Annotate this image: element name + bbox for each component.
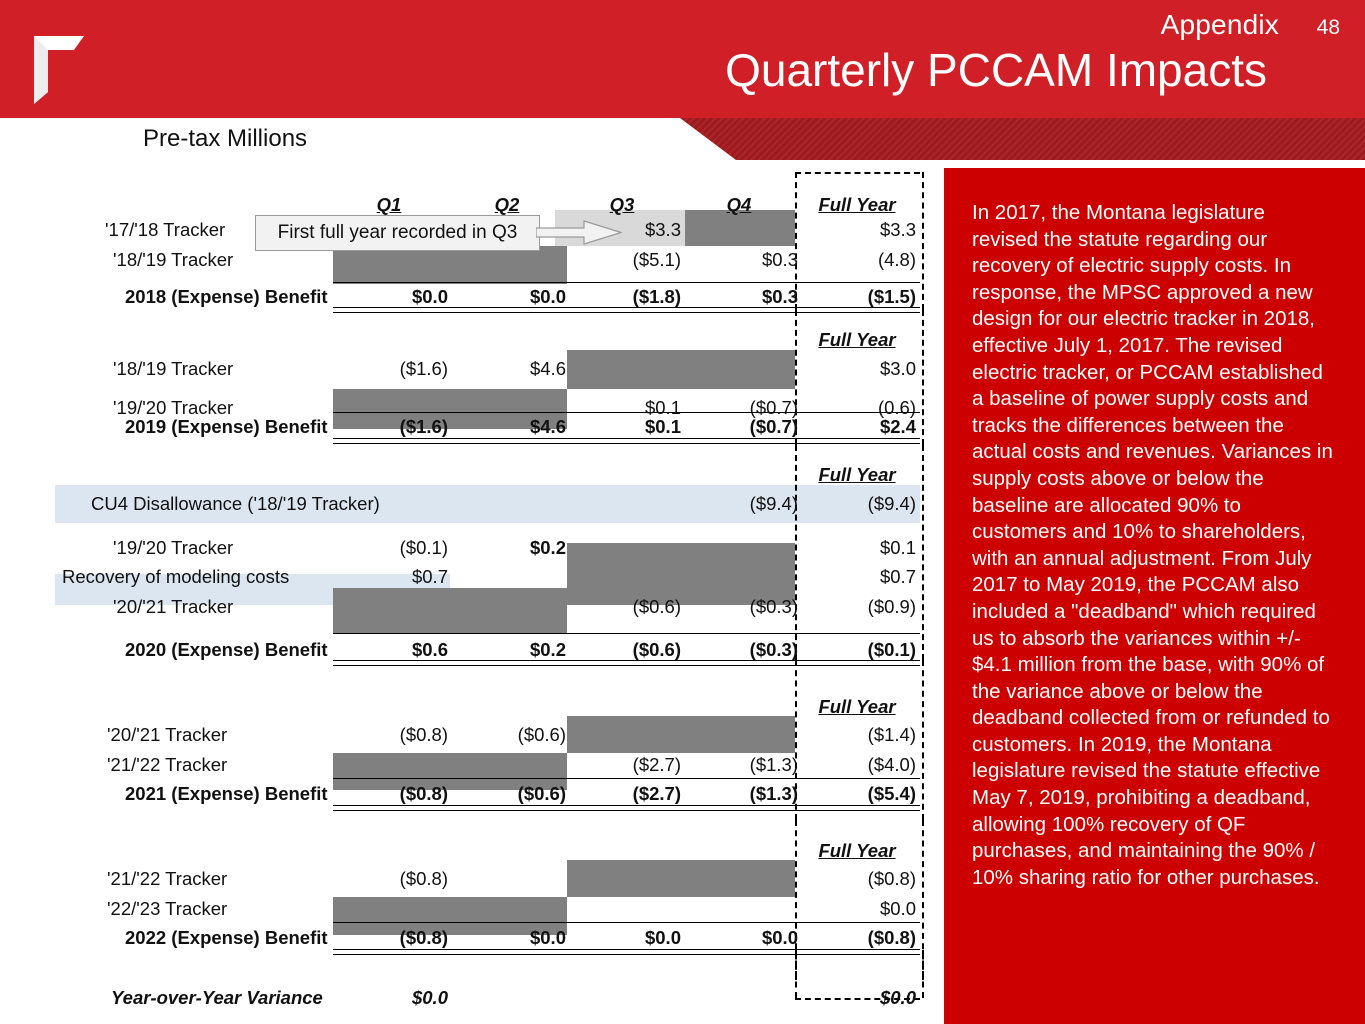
full-year-header-row-2021: Full Year bbox=[0, 692, 944, 721]
column-header-q3: Q3 bbox=[563, 194, 681, 216]
table-total-row: 2022 (Expense) Benefit ($0.8) $0.0 $0.0 … bbox=[0, 923, 944, 952]
row-label: '17/'18 Tracker bbox=[105, 219, 225, 241]
total-q1: ($0.8) bbox=[330, 783, 448, 805]
subtitle-pre-tax-millions: Pre-tax Millions bbox=[143, 125, 307, 153]
cell-full-year: $0.0 bbox=[798, 898, 916, 920]
column-header-full-year-2021: Full Year bbox=[798, 696, 916, 718]
row-label: '21/'22 Tracker bbox=[107, 754, 227, 776]
table-row: '18/'19 Tracker ($1.6) $4.6 $3.0 bbox=[0, 354, 944, 383]
cell-full-year: $0.1 bbox=[798, 537, 916, 559]
total-q4: ($0.7) bbox=[680, 416, 798, 438]
cell-full-year: ($0.9) bbox=[798, 596, 916, 618]
total-label: 2019 (Expense) Benefit bbox=[125, 416, 328, 438]
total-q2: $0.0 bbox=[448, 927, 566, 949]
total-full-year: ($5.4) bbox=[798, 783, 916, 805]
total-q3: $0.0 bbox=[563, 927, 681, 949]
cell-q3: ($5.1) bbox=[563, 249, 681, 271]
cell-q3: ($0.6) bbox=[563, 596, 681, 618]
total-full-year: $2.4 bbox=[798, 416, 916, 438]
total-label: 2020 (Expense) Benefit bbox=[125, 639, 328, 661]
pccam-impacts-table: Q1 Q2 Q3 Q4 Full Year '17/'18 Tracker $3… bbox=[0, 160, 944, 1024]
cell-full-year: $0.7 bbox=[798, 566, 916, 588]
total-q1: $0.0 bbox=[330, 286, 448, 308]
table-total-row: 2021 (Expense) Benefit ($0.8) ($0.6) ($2… bbox=[0, 779, 944, 808]
full-year-header-row-2022: Full Year bbox=[0, 836, 944, 865]
variance-q1: $0.0 bbox=[330, 987, 448, 1009]
slide-number: 48 bbox=[1317, 16, 1340, 40]
full-year-box-top-2018 bbox=[795, 172, 920, 174]
sub-banner-white-cut bbox=[0, 118, 760, 160]
cell-q4: ($1.3) bbox=[680, 754, 798, 776]
table-row: CU4 Disallowance ('18/'19 Tracker) ($9.4… bbox=[0, 489, 944, 518]
variance-full-year: $0.0 bbox=[798, 987, 916, 1009]
cell-q1: ($0.8) bbox=[330, 868, 448, 890]
cell-q4: ($0.3) bbox=[680, 596, 798, 618]
row-label: '19/'20 Tracker bbox=[113, 537, 233, 559]
cell-q2: $0.2 bbox=[448, 537, 566, 559]
callout-first-full-year: First full year recorded in Q3 bbox=[255, 215, 540, 251]
total-q4: ($1.3) bbox=[680, 783, 798, 805]
variance-row: Year-over-Year Variance $0.0 $0.0 bbox=[0, 983, 944, 1012]
row-label: Recovery of modeling costs bbox=[62, 566, 289, 588]
slide-header: Appendix 48 Quarterly PCCAM Impacts bbox=[0, 0, 1365, 118]
pccam-description-panel: In 2017, the Montana legislature revised… bbox=[944, 168, 1365, 1024]
column-header-q2: Q2 bbox=[448, 194, 566, 216]
cell-q3: ($2.7) bbox=[563, 754, 681, 776]
total-q3: ($1.8) bbox=[563, 286, 681, 308]
row-label: '21/'22 Tracker bbox=[107, 868, 227, 890]
cell-full-year: (4.8) bbox=[798, 249, 916, 271]
total-q2: $0.2 bbox=[448, 639, 566, 661]
appendix-label: Appendix bbox=[1161, 9, 1279, 41]
cell-full-year: ($0.8) bbox=[798, 868, 916, 890]
total-q1: ($1.6) bbox=[330, 416, 448, 438]
section-rule bbox=[333, 633, 920, 634]
total-label: 2018 (Expense) Benefit bbox=[125, 286, 328, 308]
page-title: Quarterly PCCAM Impacts bbox=[0, 47, 1267, 93]
row-label: '18/'19 Tracker bbox=[113, 249, 233, 271]
cell-q2: ($0.6) bbox=[448, 724, 566, 746]
total-q1: ($0.8) bbox=[330, 927, 448, 949]
pccam-description-text: In 2017, the Montana legislature revised… bbox=[972, 200, 1336, 891]
cell-q1: ($0.1) bbox=[330, 537, 448, 559]
total-full-year: ($1.5) bbox=[798, 286, 916, 308]
callout-arrow-icon bbox=[536, 220, 622, 245]
table-row: '21/'22 Tracker ($2.7) ($1.3) ($4.0) bbox=[0, 750, 944, 779]
table-row: '19/'20 Tracker ($0.1) $0.2 $0.1 bbox=[0, 533, 944, 562]
total-q3: ($2.7) bbox=[563, 783, 681, 805]
cell-full-year: ($9.4) bbox=[798, 493, 916, 515]
total-label: 2021 (Expense) Benefit bbox=[125, 783, 328, 805]
row-label: '22/'23 Tracker bbox=[107, 898, 227, 920]
table-row: '20/'21 Tracker ($0.6) ($0.3) ($0.9) bbox=[0, 592, 944, 621]
total-q4: ($0.3) bbox=[680, 639, 798, 661]
row-label: CU4 Disallowance ('18/'19 Tracker) bbox=[91, 493, 380, 515]
total-q1: $0.6 bbox=[330, 639, 448, 661]
cell-q2: $4.6 bbox=[448, 358, 566, 380]
column-header-full-year-2019: Full Year bbox=[798, 329, 916, 351]
cell-q1: $0.7 bbox=[330, 566, 448, 588]
total-q3: $0.1 bbox=[563, 416, 681, 438]
variance-label: Year-over-Year Variance bbox=[111, 987, 323, 1009]
full-year-header-row-2020: Full Year bbox=[0, 460, 944, 489]
column-header-q4: Q4 bbox=[680, 194, 798, 216]
total-q4: $0.0 bbox=[680, 927, 798, 949]
cell-full-year: $3.0 bbox=[798, 358, 916, 380]
row-label: '18/'19 Tracker bbox=[113, 358, 233, 380]
table-total-row: 2019 (Expense) Benefit ($1.6) $4.6 $0.1 … bbox=[0, 412, 944, 441]
total-q2: ($0.6) bbox=[448, 783, 566, 805]
total-label: 2022 (Expense) Benefit bbox=[125, 927, 328, 949]
row-label: '20/'21 Tracker bbox=[113, 596, 233, 618]
cell-q1: ($1.6) bbox=[330, 358, 448, 380]
total-q2: $0.0 bbox=[448, 286, 566, 308]
total-q3: ($0.6) bbox=[563, 639, 681, 661]
table-row: '21/'22 Tracker ($0.8) ($0.8) bbox=[0, 864, 944, 893]
cell-q4: $0.3 bbox=[680, 249, 798, 271]
table-row: Recovery of modeling costs $0.7 $0.7 bbox=[0, 562, 944, 591]
row-label: '20/'21 Tracker bbox=[107, 724, 227, 746]
total-full-year: ($0.8) bbox=[798, 927, 916, 949]
cell-full-year: ($4.0) bbox=[798, 754, 916, 776]
cell-full-year: $3.3 bbox=[798, 219, 916, 241]
column-header-full-year-2022: Full Year bbox=[798, 840, 916, 862]
cell-q4: ($9.4) bbox=[680, 493, 798, 515]
total-q4: $0.3 bbox=[680, 286, 798, 308]
total-full-year: ($0.1) bbox=[798, 639, 916, 661]
cell-full-year: ($1.4) bbox=[798, 724, 916, 746]
column-header-full-year-2018: Full Year bbox=[798, 194, 916, 216]
table-row: '22/'23 Tracker $0.0 bbox=[0, 894, 944, 923]
total-q2: $4.6 bbox=[448, 416, 566, 438]
table-row: '20/'21 Tracker ($0.8) ($0.6) ($1.4) bbox=[0, 720, 944, 749]
column-header-full-year-2020: Full Year bbox=[798, 464, 916, 486]
full-year-header-row-2019: Full Year bbox=[0, 325, 944, 354]
table-total-row: 2020 (Expense) Benefit $0.6 $0.2 ($0.6) … bbox=[0, 635, 944, 664]
column-header-q1: Q1 bbox=[330, 194, 448, 216]
cell-q1: ($0.8) bbox=[330, 724, 448, 746]
table-total-row: 2018 (Expense) Benefit $0.0 $0.0 ($1.8) … bbox=[0, 282, 944, 311]
